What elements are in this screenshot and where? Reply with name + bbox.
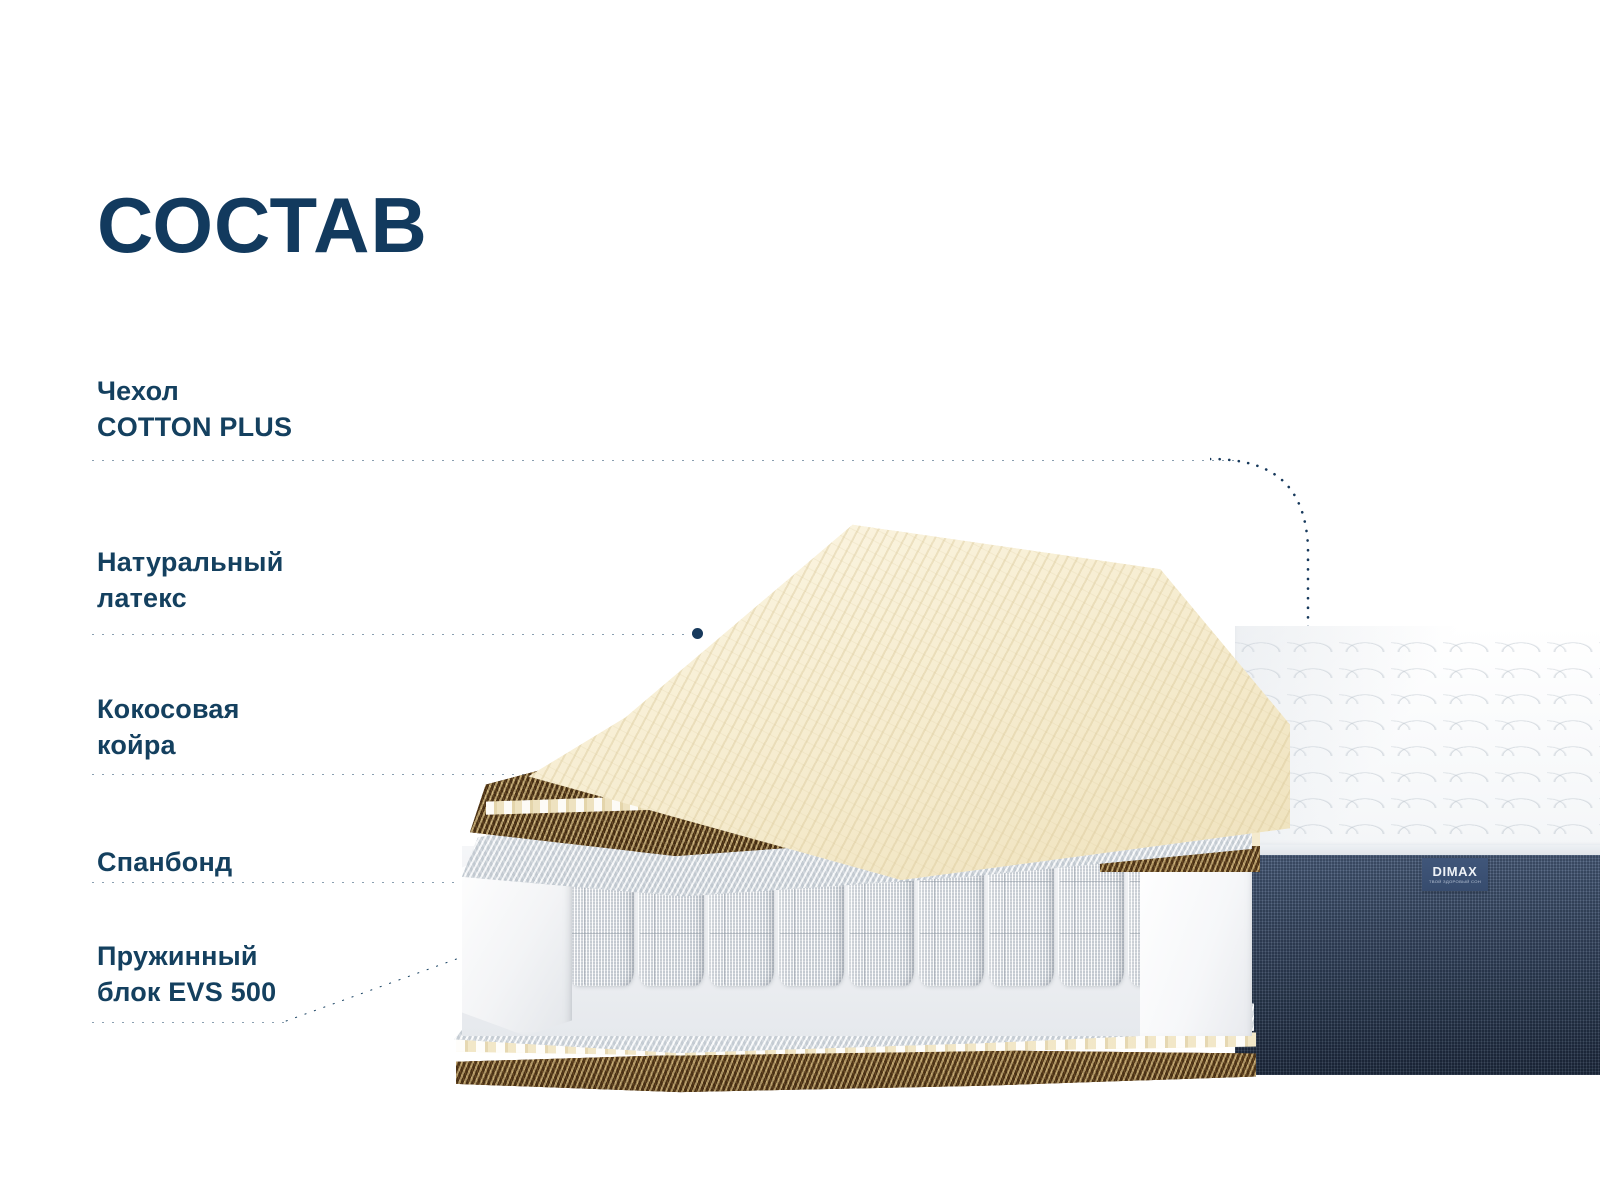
bottom-coir-strip bbox=[456, 1048, 1256, 1094]
leader-line-springs bbox=[88, 1021, 284, 1024]
layer-label-coir: Кокосовая койра bbox=[97, 692, 240, 763]
mattress-side-panel bbox=[1235, 855, 1600, 1075]
leader-line-cover bbox=[88, 459, 1236, 462]
page-title: СОСТАВ bbox=[97, 186, 428, 264]
layer-label-cover: Чехол COTTON PLUS bbox=[97, 374, 292, 445]
mattress-composition-infographic: СОСТАВ Чехол COTTON PLUS Натуральный лат… bbox=[0, 0, 1600, 1201]
dimax-logo-text: DIMAX bbox=[1433, 865, 1478, 878]
mattress-illustration: DIMAX ТВОЙ ЗДОРОВЫЙ СОН bbox=[440, 500, 1600, 1100]
leader-line-spunbond bbox=[88, 881, 493, 884]
layer-label-springs: Пружинный блок EVS 500 bbox=[97, 939, 276, 1010]
layer-label-latex: Натуральный латекс bbox=[97, 545, 284, 616]
layer-label-spunbond: Спанбонд bbox=[97, 845, 232, 881]
dimax-logo-tagline: ТВОЙ ЗДОРОВЫЙ СОН bbox=[1429, 880, 1481, 884]
dimax-logo-patch: DIMAX ТВОЙ ЗДОРОВЫЙ СОН bbox=[1422, 858, 1488, 891]
